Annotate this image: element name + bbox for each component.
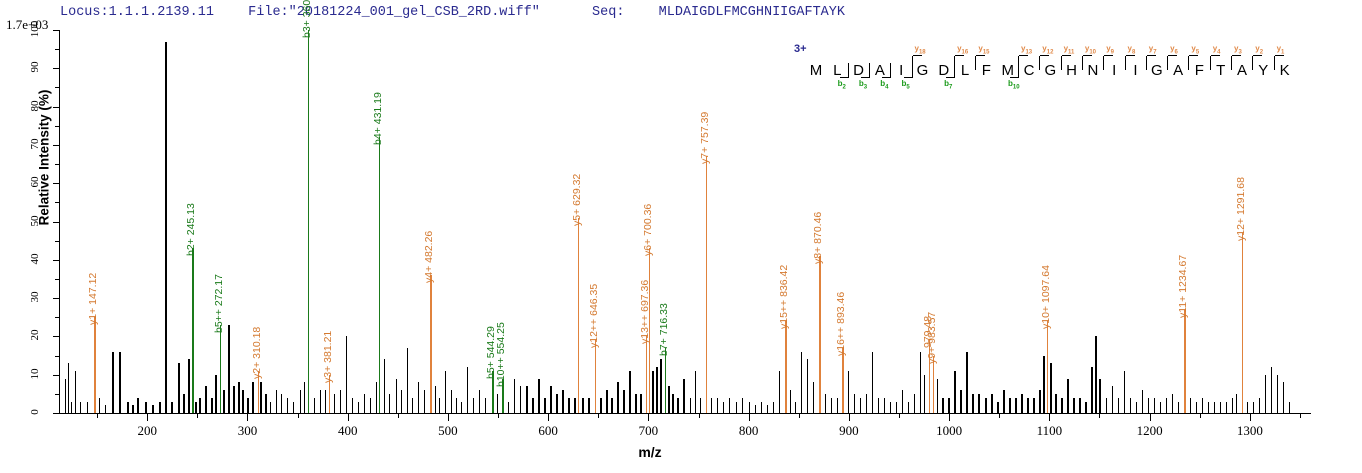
peak xyxy=(1033,398,1034,413)
peak xyxy=(1236,394,1237,413)
peak-label: y8+ 870.46 xyxy=(812,212,824,264)
annotated-peak xyxy=(819,256,820,413)
peak xyxy=(538,379,539,413)
y-ion-tick xyxy=(975,56,976,70)
peak xyxy=(228,325,229,413)
peak xyxy=(1050,363,1051,413)
x-tick-minor xyxy=(1300,414,1301,418)
x-tick xyxy=(849,414,850,421)
peak xyxy=(1277,375,1278,413)
peak xyxy=(233,386,234,413)
peak xyxy=(1099,379,1100,413)
y-ion-label: y6 xyxy=(1170,44,1178,56)
peak xyxy=(1196,402,1197,413)
peak xyxy=(617,382,618,413)
peak xyxy=(914,394,915,413)
peak xyxy=(304,382,305,413)
peak xyxy=(1142,390,1143,413)
x-tick-label: 1300 xyxy=(1220,423,1280,439)
y-ion-label: y15 xyxy=(978,44,989,56)
y-tick xyxy=(53,145,60,146)
peak-label: y1+ 147.12 xyxy=(87,273,99,325)
annotated-peak xyxy=(1047,321,1048,413)
peak xyxy=(171,402,172,413)
x-tick xyxy=(448,414,449,421)
peak xyxy=(485,398,486,413)
x-tick xyxy=(1049,414,1050,421)
peak xyxy=(270,402,271,413)
y-ion-label: y13 xyxy=(1021,44,1032,56)
x-tick-label: 1200 xyxy=(1120,423,1180,439)
y-ion-tick xyxy=(1167,56,1168,70)
x-tick-minor xyxy=(598,414,599,418)
x-tick-minor xyxy=(298,414,299,418)
peak xyxy=(611,398,612,413)
y-tick xyxy=(53,375,60,376)
y-ion-label: y18 xyxy=(915,44,926,56)
peak xyxy=(695,371,696,413)
peak xyxy=(1118,398,1119,413)
peak xyxy=(238,382,239,413)
ladder-residue: H xyxy=(1064,62,1080,79)
peak xyxy=(195,402,196,413)
x-tick-minor xyxy=(1200,414,1201,418)
peak xyxy=(1226,402,1227,413)
annotated-peak xyxy=(578,218,579,413)
x-tick-minor xyxy=(699,414,700,418)
peak xyxy=(407,348,408,413)
b-ion-label: b5 xyxy=(902,79,910,91)
peak xyxy=(1220,402,1221,413)
b-ion-tick xyxy=(890,63,891,77)
peak xyxy=(265,394,266,413)
peak xyxy=(954,371,955,413)
y-tick xyxy=(53,298,60,299)
peak xyxy=(159,402,160,413)
peak xyxy=(1148,398,1149,413)
peak xyxy=(574,398,575,413)
y-ion-label: y3 xyxy=(1234,44,1242,56)
peak xyxy=(755,405,756,413)
x-tick xyxy=(1150,414,1151,421)
peak xyxy=(340,390,341,413)
peak xyxy=(908,402,909,413)
b-ion-label: b3 xyxy=(859,79,867,91)
peak xyxy=(526,386,527,413)
y-tick xyxy=(53,68,60,69)
x-tick-label: 1000 xyxy=(919,423,979,439)
peak xyxy=(860,398,861,413)
b-ion-tick-foot xyxy=(840,77,849,78)
spectrum-header: Locus:1.1.1.2139.11 File:"20181224_001_g… xyxy=(60,5,845,20)
ladder-residue: T xyxy=(1213,62,1229,79)
peak xyxy=(188,359,189,413)
x-tick-minor xyxy=(97,414,98,418)
b-ion-label: b4 xyxy=(880,79,888,91)
peak xyxy=(1202,398,1203,413)
y-tick xyxy=(53,413,60,414)
fragment-ladder: 3+ MLDAIGDLFMCGHNIIGAFTAYKb2b3b4b5b7b10y… xyxy=(790,40,1290,100)
peak xyxy=(223,390,224,413)
y-tick xyxy=(53,336,60,337)
peak xyxy=(825,394,826,413)
peak-label: y11+ 1234.67 xyxy=(1177,254,1189,317)
ladder-residue: N xyxy=(1085,62,1101,79)
peak-label: y10+ 1097.64 xyxy=(1040,265,1052,329)
peak xyxy=(884,398,885,413)
peak xyxy=(75,371,76,413)
locus-label: Locus:1.1.1.2139.11 xyxy=(60,5,214,20)
peak xyxy=(606,390,607,413)
peak xyxy=(711,398,712,413)
peak xyxy=(1178,402,1179,413)
y-ion-label: y1 xyxy=(1277,44,1285,56)
x-tick-minor xyxy=(197,414,198,418)
b-ion-tick-foot xyxy=(946,77,955,78)
peak xyxy=(127,402,128,413)
peak xyxy=(717,398,718,413)
peak xyxy=(872,352,873,413)
ladder-residue: F xyxy=(1191,62,1207,79)
peak xyxy=(623,390,624,413)
x-tick-minor xyxy=(799,414,800,418)
peak xyxy=(1091,367,1092,413)
ladder-residue: F xyxy=(978,62,994,79)
peak xyxy=(479,390,480,413)
peak xyxy=(1154,398,1155,413)
peak xyxy=(451,390,452,413)
x-tick xyxy=(949,414,950,421)
y-ion-label: y2 xyxy=(1255,44,1263,56)
file-label: File:"20181224_001_gel_CSB_2RD.wiff" xyxy=(248,5,540,20)
peak-label: y2+ 310.18 xyxy=(251,327,263,379)
peak xyxy=(801,352,802,413)
y-ion-tick xyxy=(1188,56,1189,70)
y-tick-label: 40 xyxy=(29,244,41,274)
x-tick xyxy=(548,414,549,421)
y-ion-label: y11 xyxy=(1064,44,1075,56)
x-tick-minor xyxy=(899,414,900,418)
peak-label: b2+ 245.13 xyxy=(185,203,197,256)
peak xyxy=(985,398,986,413)
y-ion-tick xyxy=(912,56,913,70)
y-ion-tick xyxy=(1252,56,1253,70)
peak xyxy=(896,402,897,413)
peak xyxy=(723,402,724,413)
peak xyxy=(668,386,669,413)
y-ion-tick xyxy=(1210,56,1211,70)
b-ion-tick-foot xyxy=(882,77,891,78)
peak xyxy=(165,42,166,414)
peak xyxy=(978,394,979,413)
ladder-residue: C xyxy=(1021,62,1037,79)
peak xyxy=(1136,402,1137,413)
peak xyxy=(736,402,737,413)
peak xyxy=(920,352,921,413)
peak xyxy=(1130,398,1131,413)
peak xyxy=(199,398,200,413)
peak xyxy=(132,405,133,413)
y-tick-label: 100 xyxy=(29,14,41,44)
peak xyxy=(742,398,743,413)
peak xyxy=(514,379,515,413)
peak xyxy=(656,367,657,413)
y-tick-label: 0 xyxy=(29,397,41,427)
y-ion-tick xyxy=(1274,56,1275,70)
y-ion-tick xyxy=(1146,56,1147,70)
peak-label: y7+ 757.39 xyxy=(699,112,711,164)
peak-label: y12++ 646.35 xyxy=(588,284,600,348)
peak xyxy=(293,402,294,413)
ladder-residue: G xyxy=(1149,62,1165,79)
peak xyxy=(346,336,347,413)
annotated-peak xyxy=(665,348,666,413)
y-tick-label: 50 xyxy=(29,206,41,236)
peak xyxy=(588,398,589,413)
peak xyxy=(1067,379,1068,413)
peak-label: y4+ 482.26 xyxy=(423,231,435,283)
peak-label: y13++ 697.36 xyxy=(639,280,651,344)
peak xyxy=(807,359,808,413)
b-ion-tick-foot xyxy=(904,77,913,78)
b-ion-tick xyxy=(869,63,870,77)
annotated-peak xyxy=(94,317,95,413)
y-tick-label: 60 xyxy=(29,167,41,197)
y-ion-label: y5 xyxy=(1191,44,1199,56)
peak xyxy=(773,402,774,413)
peak xyxy=(215,375,216,413)
peak xyxy=(418,382,419,413)
peak xyxy=(550,386,551,413)
peak xyxy=(99,398,100,413)
b-ion-label: b2 xyxy=(838,79,846,91)
y-ion-tick xyxy=(1039,56,1040,70)
peak xyxy=(508,402,509,413)
peak xyxy=(473,398,474,413)
peak xyxy=(1124,371,1125,413)
x-tick-label: 900 xyxy=(819,423,879,439)
peak xyxy=(848,371,849,413)
peak xyxy=(937,379,938,413)
peak xyxy=(1085,402,1086,413)
peak xyxy=(287,398,288,413)
peak xyxy=(1079,398,1080,413)
b-ion-label: b10 xyxy=(1008,79,1020,91)
y-ion-tick xyxy=(1231,56,1232,70)
x-tick-label: 300 xyxy=(217,423,277,439)
y-ion-tick xyxy=(1061,56,1062,70)
peak-label: b5++ 272.17 xyxy=(213,274,225,333)
peak xyxy=(942,398,943,413)
x-tick-label: 400 xyxy=(318,423,378,439)
peak xyxy=(761,402,762,413)
peak xyxy=(145,402,146,413)
peak xyxy=(389,394,390,413)
x-tick-label: 600 xyxy=(518,423,578,439)
peak xyxy=(948,398,949,413)
peak xyxy=(582,398,583,413)
peak-label: y5+ 629.32 xyxy=(571,173,583,225)
peak xyxy=(137,398,138,413)
peak xyxy=(281,394,282,413)
y-ion-label: y12 xyxy=(1042,44,1053,56)
peak xyxy=(276,390,277,413)
peak-label: y15++ 836.42 xyxy=(778,265,790,329)
annotated-peak xyxy=(646,336,647,413)
peak xyxy=(640,394,641,413)
peak xyxy=(831,398,832,413)
peak xyxy=(71,402,72,413)
peak xyxy=(211,398,212,413)
y-tick xyxy=(53,222,60,223)
annotated-peak xyxy=(308,30,309,413)
peak xyxy=(790,390,791,413)
peak xyxy=(252,382,253,413)
peak xyxy=(1265,375,1266,413)
peak xyxy=(183,394,184,413)
peak xyxy=(65,379,66,413)
y-tick-label: 10 xyxy=(29,359,41,389)
peak xyxy=(396,379,397,413)
peak xyxy=(1027,398,1028,413)
ladder-residue: I xyxy=(1106,62,1122,79)
peak xyxy=(779,371,780,413)
ladder-residue: K xyxy=(1277,62,1293,79)
peak xyxy=(334,394,335,413)
y-tick xyxy=(53,260,60,261)
b-ion-tick-foot xyxy=(861,77,870,78)
peak xyxy=(878,398,879,413)
peak xyxy=(890,402,891,413)
peak xyxy=(401,390,402,413)
b-ion-tick xyxy=(848,63,849,77)
peak xyxy=(866,394,867,413)
ladder-residue: I xyxy=(1128,62,1144,79)
peak xyxy=(119,352,120,413)
x-tick-label: 800 xyxy=(719,423,779,439)
peak xyxy=(1232,398,1233,413)
peak xyxy=(1271,367,1272,413)
ladder-residue: A xyxy=(1170,62,1186,79)
ladder-residue: G xyxy=(1042,62,1058,79)
peak xyxy=(837,398,838,413)
y-tick xyxy=(53,30,60,31)
ladder-residue: G xyxy=(915,62,931,79)
y-ion-label: y9 xyxy=(1106,44,1114,56)
peak-label: b7+ 716.33 xyxy=(658,303,670,356)
peak xyxy=(652,371,653,413)
base-peak-intensity: 1.7e+03 xyxy=(6,17,48,33)
annotated-peak xyxy=(192,248,193,413)
annotated-peak xyxy=(220,325,221,413)
peak xyxy=(314,398,315,413)
peak xyxy=(520,386,521,413)
peak xyxy=(1106,398,1107,413)
peak xyxy=(435,386,436,413)
annotated-peak xyxy=(785,321,786,413)
peak xyxy=(424,390,425,413)
peak xyxy=(80,402,81,413)
peak xyxy=(729,398,730,413)
peak xyxy=(364,394,365,413)
peak xyxy=(902,390,903,413)
y-tick xyxy=(53,107,60,108)
peak xyxy=(544,398,545,413)
annotated-peak xyxy=(1242,233,1243,413)
x-tick-label: 500 xyxy=(418,423,478,439)
peak xyxy=(247,398,248,413)
y-ion-tick xyxy=(954,56,955,70)
peak xyxy=(635,394,636,413)
x-tick-minor xyxy=(398,414,399,418)
x-tick-minor xyxy=(999,414,1000,418)
peak xyxy=(1247,402,1248,413)
peak xyxy=(1095,336,1096,413)
x-tick-label: 200 xyxy=(117,423,177,439)
peak xyxy=(205,386,206,413)
annotated-peak xyxy=(379,137,380,413)
peak xyxy=(966,352,967,413)
annotated-peak xyxy=(933,356,934,413)
peak xyxy=(1289,402,1290,413)
x-tick xyxy=(749,414,750,421)
peak xyxy=(1214,402,1215,413)
peak xyxy=(1039,390,1040,413)
peak xyxy=(461,402,462,413)
peak xyxy=(1160,402,1161,413)
peak xyxy=(105,405,106,413)
peak xyxy=(384,359,385,413)
annotated-peak xyxy=(1184,310,1185,413)
peak xyxy=(1015,398,1016,413)
peak xyxy=(439,398,440,413)
y-ion-tick xyxy=(1082,56,1083,70)
peak xyxy=(813,382,814,413)
x-tick-minor xyxy=(1099,414,1100,418)
peak xyxy=(1003,390,1004,413)
precursor-charge: 3+ xyxy=(794,43,807,55)
peak xyxy=(445,371,446,413)
peak xyxy=(497,394,498,413)
peak xyxy=(690,398,691,413)
peak xyxy=(242,390,243,413)
peak xyxy=(677,398,678,413)
peak-label: b3+ 360.1 xyxy=(301,0,313,38)
peak xyxy=(660,359,661,413)
peak xyxy=(1073,398,1074,413)
y-ion-tick xyxy=(1018,56,1019,70)
peak xyxy=(260,382,261,413)
y-ion-tick xyxy=(1125,56,1126,70)
spectrum-viewer: 1.7e+03 Locus:1.1.1.2139.11 File:"201812… xyxy=(0,0,1362,473)
peak xyxy=(1166,398,1167,413)
peak xyxy=(1208,402,1209,413)
peak xyxy=(960,390,961,413)
peptide-sequence: MLDAIGDLFMCGHNIIGAFTAYK xyxy=(659,5,845,20)
peak xyxy=(325,390,326,413)
ladder-residue: L xyxy=(957,62,973,79)
x-tick xyxy=(147,414,148,421)
x-tick xyxy=(648,414,649,421)
y-ion-label: y7 xyxy=(1149,44,1157,56)
peak xyxy=(1009,398,1010,413)
ladder-residue: Y xyxy=(1255,62,1271,79)
peak xyxy=(300,390,301,413)
peak xyxy=(1190,398,1191,413)
x-axis-title: m/z xyxy=(605,444,695,460)
y-ion-label: y8 xyxy=(1128,44,1136,56)
peak xyxy=(1172,394,1173,413)
